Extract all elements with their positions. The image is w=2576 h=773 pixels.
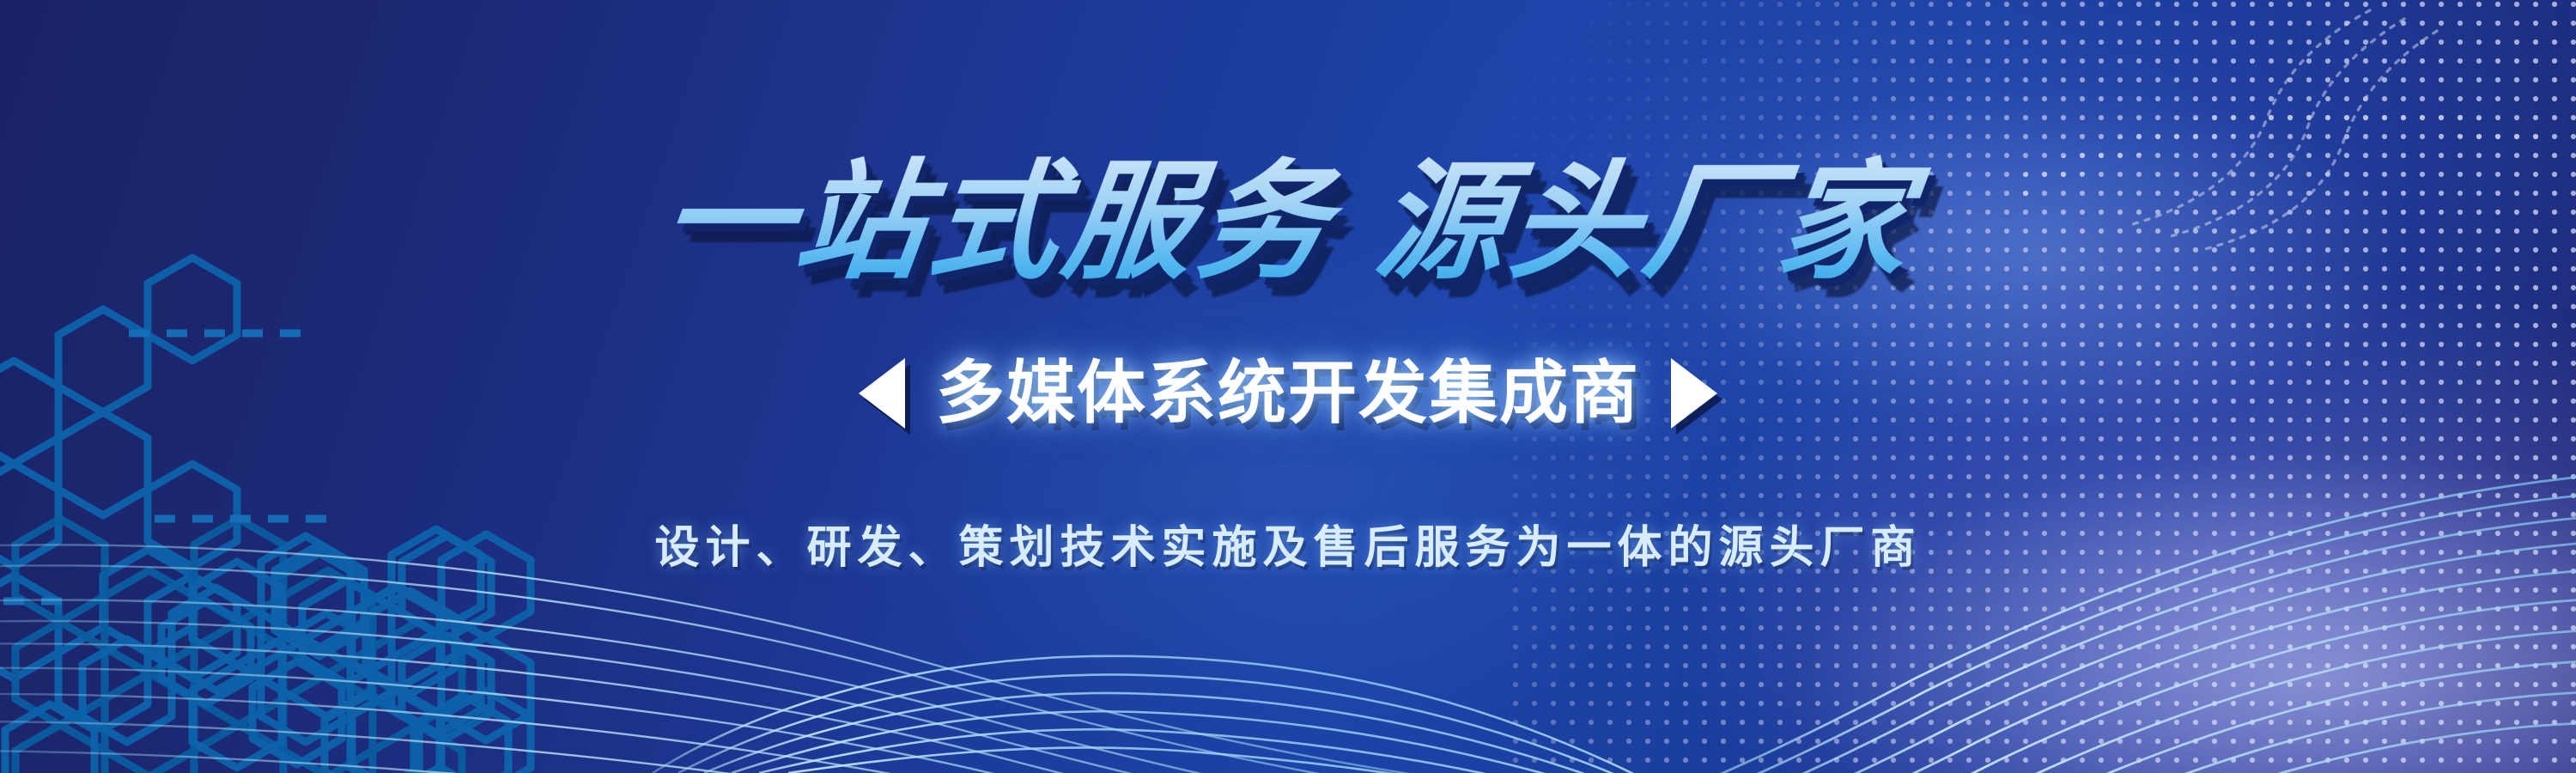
headline: 一站式服务源头厂家 (0, 136, 2576, 307)
triangle-right-icon (1671, 358, 1717, 429)
subtitle-row: 多媒体系统开发集成商 (0, 350, 2576, 436)
triangle-left-icon (859, 358, 905, 429)
promo-banner: 一站式服务源头厂家 多媒体系统开发集成商 设计、研发、策划技术实施及售后服务为一… (0, 0, 2576, 773)
subtitle-text: 多媒体系统开发集成商 (936, 350, 1640, 436)
banner-content: 一站式服务源头厂家 多媒体系统开发集成商 设计、研发、策划技术实施及售后服务为一… (0, 0, 2576, 773)
tagline-text: 设计、研发、策划技术实施及售后服务为一体的源头厂商 (0, 517, 2576, 579)
headline-part-2: 源头厂家 (1369, 149, 1923, 294)
headline-part-1: 一站式服务 (654, 149, 1342, 294)
